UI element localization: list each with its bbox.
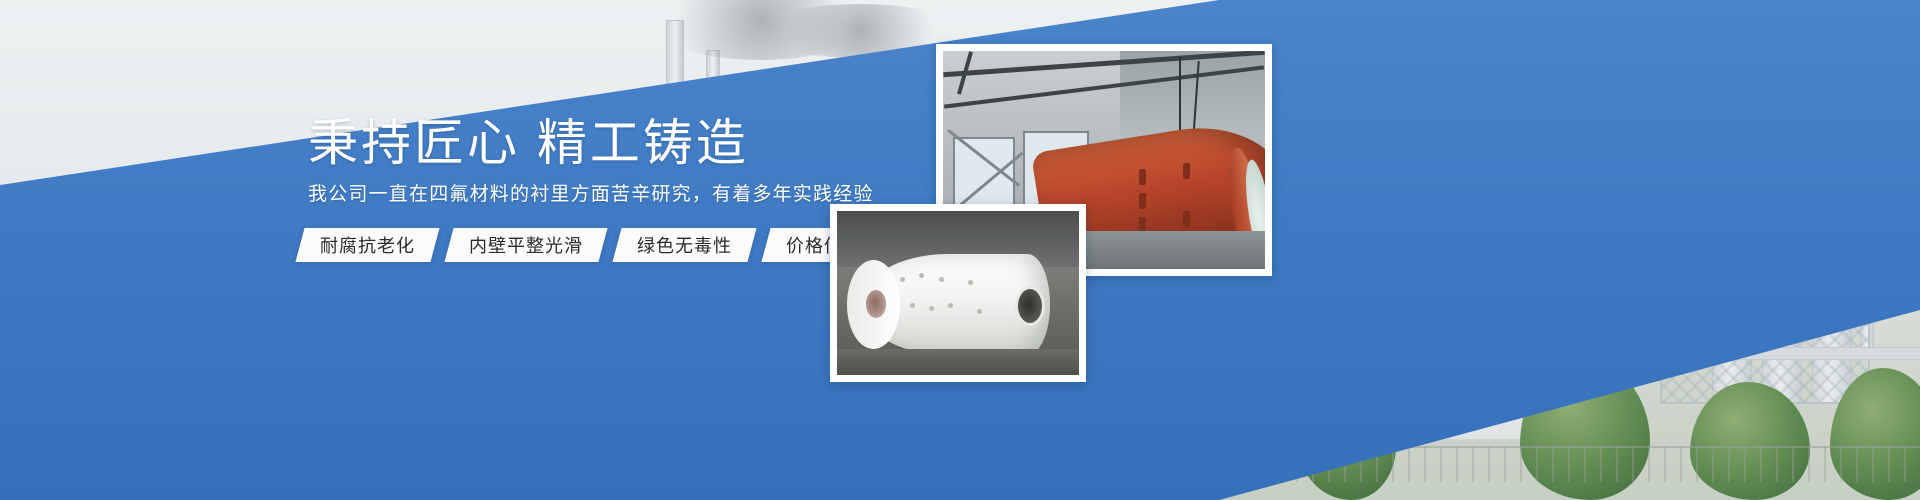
tank-stud <box>900 277 905 282</box>
white-lined-tank-image <box>837 211 1079 375</box>
feature-tag-2[interactable]: 内壁平整光滑 <box>444 228 607 262</box>
tank-stud <box>968 280 973 285</box>
tank-ground <box>837 349 1079 375</box>
vessel-rib <box>1139 169 1146 185</box>
banner-subheadline: 我公司一直在四氟材料的衬里方面苦辛研究，有着多年实践经验 <box>308 185 874 204</box>
banner-headline: 秉持匠心 精工铸造 <box>308 118 749 168</box>
vessel-rib <box>1183 211 1190 227</box>
tank-nozzle <box>866 290 886 318</box>
vessel-rib <box>1139 193 1146 209</box>
tank-stud <box>939 277 944 282</box>
feature-tag-3-label: 绿色无毒性 <box>637 232 732 258</box>
banner-content: 秉持匠心 精工铸造 我公司一直在四氟材料的衬里方面苦辛研究，有着多年实践经验 耐… <box>0 0 1920 500</box>
promo-banner: 秉持匠心 精工铸造 我公司一直在四氟材料的衬里方面苦辛研究，有着多年实践经验 耐… <box>0 0 1920 500</box>
tank-stud <box>910 303 915 308</box>
feature-tag-list: 耐腐抗老化 内壁平整光滑 绿色无毒性 价格低廉 <box>300 228 896 262</box>
feature-tag-2-label: 内壁平整光滑 <box>469 232 583 258</box>
feature-tag-1-label: 耐腐抗老化 <box>320 232 415 258</box>
feature-tag-1[interactable]: 耐腐抗老化 <box>295 228 439 262</box>
white-lined-tank-photo[interactable] <box>830 204 1086 382</box>
feature-tag-3[interactable]: 绿色无毒性 <box>612 228 756 262</box>
vessel-rib <box>1183 163 1190 179</box>
